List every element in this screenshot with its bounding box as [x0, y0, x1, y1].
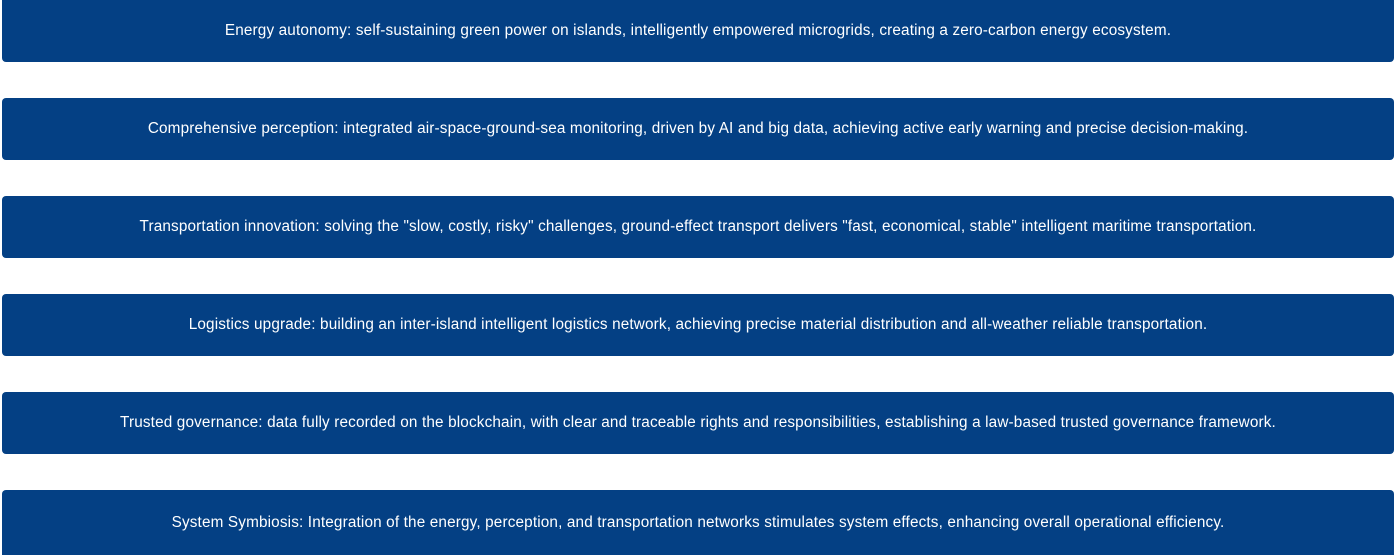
banner-text-comprehensive-perception: Comprehensive perception: integrated air… — [148, 119, 1248, 139]
banner-text-logistics-upgrade: Logistics upgrade: building an inter-isl… — [189, 315, 1208, 335]
banner-row-comprehensive-perception[interactable]: Comprehensive perception: integrated air… — [2, 98, 1394, 160]
banner-text-trusted-governance: Trusted governance: data fully recorded … — [120, 413, 1276, 433]
banner-row-energy-autonomy[interactable]: Energy autonomy: self-sustaining green p… — [2, 0, 1394, 62]
banner-text-energy-autonomy: Energy autonomy: self-sustaining green p… — [225, 21, 1171, 41]
banner-row-transportation-innovation[interactable]: Transportation innovation: solving the "… — [2, 196, 1394, 258]
banner-stack: Energy autonomy: self-sustaining green p… — [0, 0, 1400, 555]
banner-text-transportation-innovation: Transportation innovation: solving the "… — [140, 217, 1257, 237]
banner-row-system-symbiosis[interactable]: System Symbiosis: Integration of the ene… — [2, 490, 1394, 555]
banner-row-logistics-upgrade[interactable]: Logistics upgrade: building an inter-isl… — [2, 294, 1394, 356]
banner-text-system-symbiosis: System Symbiosis: Integration of the ene… — [172, 513, 1225, 533]
banner-row-trusted-governance[interactable]: Trusted governance: data fully recorded … — [2, 392, 1394, 454]
